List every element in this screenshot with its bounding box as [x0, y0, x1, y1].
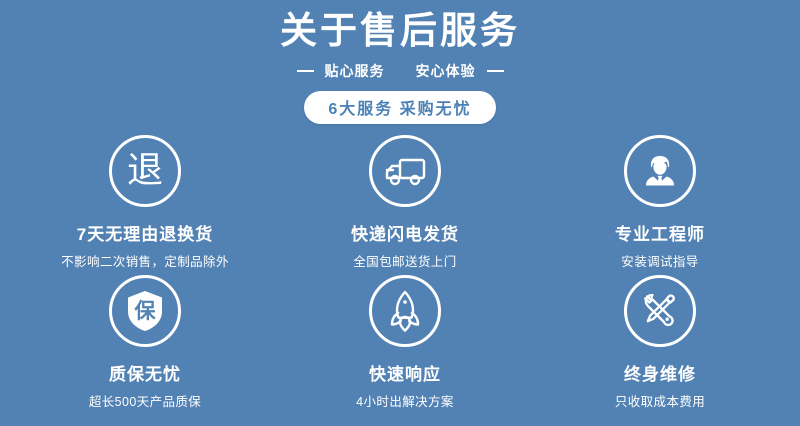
service-card-return: 退 7天无理由退换货 不影响二次销售，定制品除外 — [0, 130, 290, 270]
service-title: 7天无理由退换货 — [77, 220, 213, 245]
return-glyph: 退 — [127, 153, 163, 189]
warranty-shield-icon: 保 — [109, 275, 181, 347]
service-desc: 4小时出解决方案 — [356, 391, 454, 410]
service-desc: 只收取成本费用 — [615, 391, 705, 410]
service-card-response: 快速响应 4小时出解决方案 — [290, 270, 520, 410]
subtitle-left: 贴心服务 — [325, 61, 385, 81]
service-title: 专业工程师 — [615, 220, 705, 245]
dash-right-icon — [487, 70, 504, 72]
banner-header: 关于售后服务 贴心服务 安心体验 6大服务 采购无忧 — [0, 0, 800, 124]
delivery-truck-icon — [369, 135, 441, 207]
service-desc: 不影响二次销售，定制品除外 — [61, 251, 229, 270]
service-desc: 全国包邮送货上门 — [353, 251, 456, 270]
wrench-screwdriver-icon — [624, 275, 696, 347]
service-card-repair: 终身维修 只收取成本费用 — [520, 270, 800, 410]
service-card-warranty: 保 质保无忧 超长500天产品质保 — [0, 270, 290, 410]
engineer-person-icon — [624, 135, 696, 207]
subtitle-right: 安心体验 — [416, 61, 476, 81]
service-desc: 超长500天产品质保 — [89, 391, 201, 410]
rocket-icon — [369, 275, 441, 347]
badge-row: 6大服务 采购无忧 — [0, 91, 800, 124]
service-title: 质保无忧 — [109, 360, 181, 385]
page-title: 关于售后服务 — [0, 9, 800, 53]
service-title: 终身维修 — [624, 360, 696, 385]
return-character-icon: 退 — [109, 135, 181, 207]
service-title: 快速响应 — [369, 360, 441, 385]
service-title: 快递闪电发货 — [351, 220, 459, 245]
service-card-engineer: 专业工程师 安装调试指导 — [520, 130, 800, 270]
service-card-shipping: 快递闪电发货 全国包邮送货上门 — [290, 130, 520, 270]
dash-left-icon — [297, 70, 314, 72]
service-desc: 安装调试指导 — [621, 251, 698, 270]
service-grid: 退 7天无理由退换货 不影响二次销售，定制品除外 快递闪电发货 全国包邮送货上门 — [0, 130, 800, 410]
after-sales-service-banner: 关于售后服务 贴心服务 安心体验 6大服务 采购无忧 退 7天无理由退换货 不影… — [0, 0, 800, 426]
banner-subtitle: 贴心服务 安心体验 — [0, 61, 800, 81]
service-badge: 6大服务 采购无忧 — [304, 91, 495, 124]
warranty-glyph: 保 — [125, 289, 165, 333]
